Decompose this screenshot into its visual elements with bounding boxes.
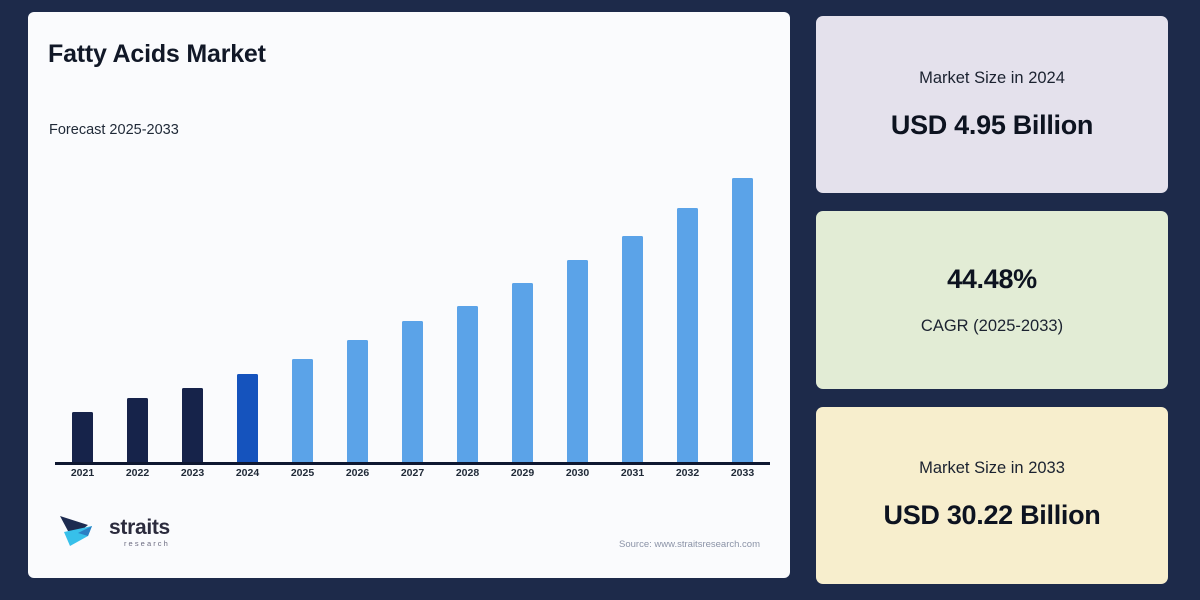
chart-panel: Fatty Acids Market Forecast 2025-2033 20… <box>28 12 790 578</box>
straits-research-logo: straits research <box>58 512 170 552</box>
logo-text: straits research <box>109 517 170 548</box>
bar-slot-2033 <box>715 162 770 462</box>
bar-slot-2029 <box>495 162 550 462</box>
x-label-2022: 2022 <box>110 467 165 479</box>
x-label-2024: 2024 <box>220 467 275 479</box>
bar-2025[interactable] <box>292 359 313 462</box>
stat-card-2: 44.48%CAGR (2025-2033) <box>816 211 1168 388</box>
bar-2029[interactable] <box>512 283 533 462</box>
x-axis-line <box>55 462 770 465</box>
bar-slot-2032 <box>660 162 715 462</box>
x-label-2030: 2030 <box>550 467 605 479</box>
stat-card-label: Market Size in 2024 <box>919 69 1065 88</box>
bar-slot-2021 <box>55 162 110 462</box>
x-label-2032: 2032 <box>660 467 715 479</box>
logo-wordmark: straits <box>109 517 170 538</box>
bar-2030[interactable] <box>567 260 588 462</box>
x-label-2026: 2026 <box>330 467 385 479</box>
chart-plot-area <box>55 152 770 467</box>
bar-series <box>55 162 770 462</box>
straits-logo-icon <box>58 512 102 552</box>
stat-card-value: 44.48% <box>947 264 1037 295</box>
bar-slot-2026 <box>330 162 385 462</box>
bar-slot-2027 <box>385 162 440 462</box>
x-label-2031: 2031 <box>605 467 660 479</box>
x-label-2028: 2028 <box>440 467 495 479</box>
x-axis-tick-labels: 2021202220232024202520262027202820292030… <box>55 467 770 479</box>
stat-card-label: Market Size in 2033 <box>919 459 1065 478</box>
logo-subtext: research <box>124 540 170 548</box>
bar-slot-2031 <box>605 162 660 462</box>
bar-slot-2028 <box>440 162 495 462</box>
bar-slot-2024 <box>220 162 275 462</box>
bar-2027[interactable] <box>402 321 423 462</box>
x-label-2025: 2025 <box>275 467 330 479</box>
bar-slot-2023 <box>165 162 220 462</box>
bar-slot-2022 <box>110 162 165 462</box>
x-label-2027: 2027 <box>385 467 440 479</box>
bar-2031[interactable] <box>622 236 643 462</box>
bar-slot-2030 <box>550 162 605 462</box>
bar-2026[interactable] <box>347 340 368 462</box>
bar-slot-2025 <box>275 162 330 462</box>
stat-card-value: USD 30.22 Billion <box>884 500 1101 531</box>
bar-2028[interactable] <box>457 306 478 462</box>
source-attribution: Source: www.straitsresearch.com <box>619 539 760 550</box>
x-label-2033: 2033 <box>715 467 770 479</box>
page-title: Fatty Acids Market <box>48 40 266 69</box>
stat-cards-column: Market Size in 2024USD 4.95 Billion44.48… <box>816 16 1168 584</box>
bar-2021[interactable] <box>72 412 93 462</box>
stat-card-label: CAGR (2025-2033) <box>921 317 1063 336</box>
x-label-2021: 2021 <box>55 467 110 479</box>
x-label-2023: 2023 <box>165 467 220 479</box>
bar-2022[interactable] <box>127 398 148 462</box>
stat-card-value: USD 4.95 Billion <box>891 110 1093 141</box>
x-label-2029: 2029 <box>495 467 550 479</box>
bar-2033[interactable] <box>732 178 753 462</box>
bar-2024[interactable] <box>237 374 258 462</box>
bar-2032[interactable] <box>677 208 698 462</box>
stat-card-1: Market Size in 2024USD 4.95 Billion <box>816 16 1168 193</box>
bar-2023[interactable] <box>182 388 203 462</box>
chart-subtitle: Forecast 2025-2033 <box>49 122 179 138</box>
stat-card-3: Market Size in 2033USD 30.22 Billion <box>816 407 1168 584</box>
